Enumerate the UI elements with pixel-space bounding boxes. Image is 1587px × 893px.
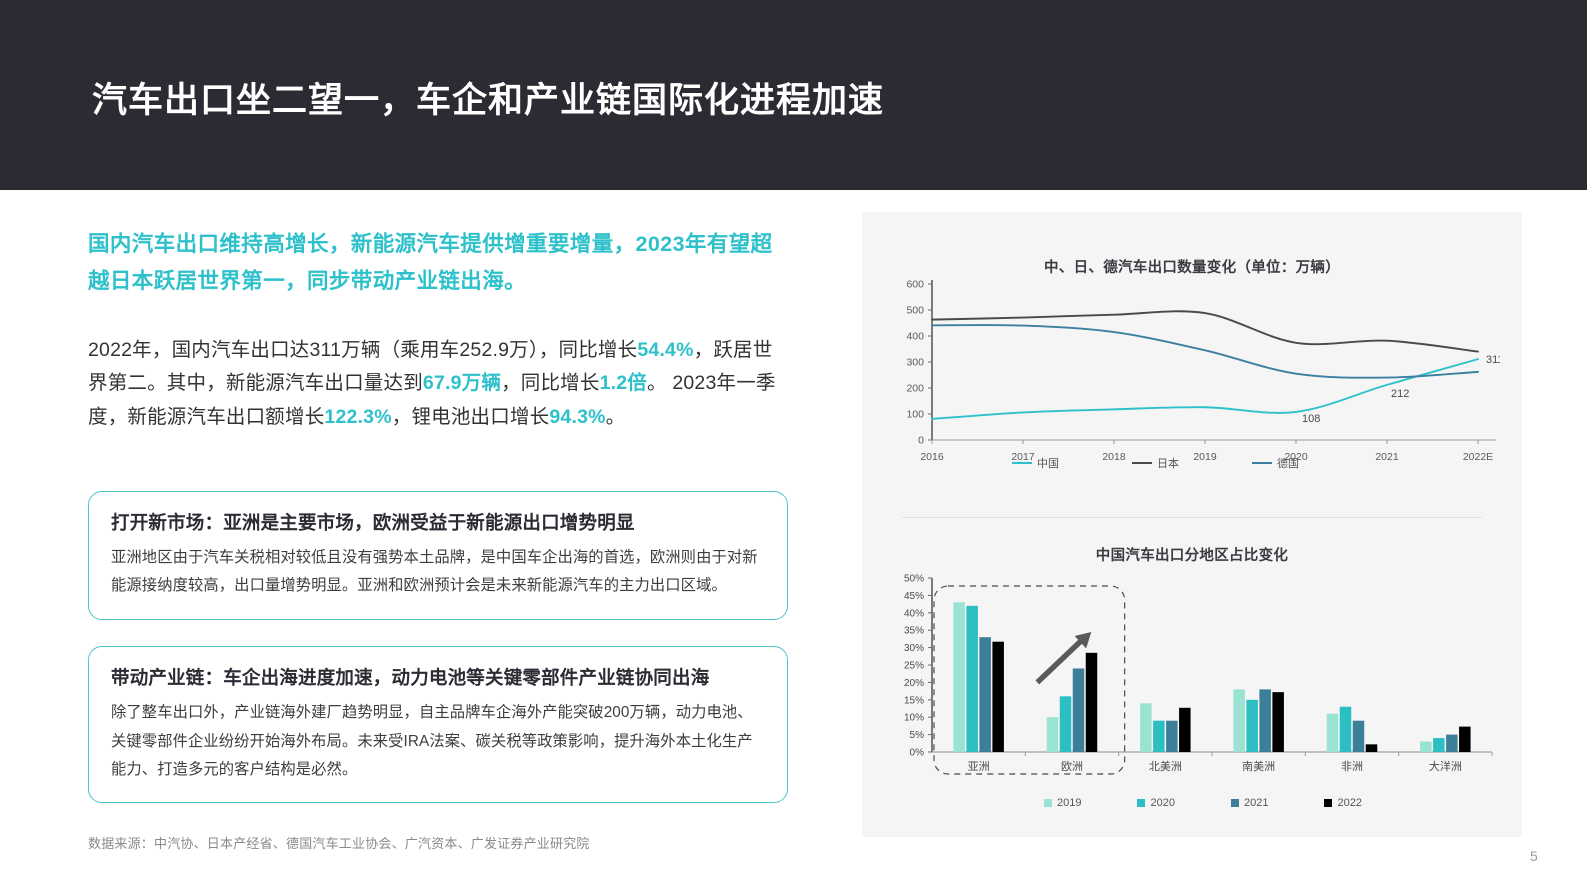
para-highlight-4: 122.3%: [324, 406, 391, 428]
bar-非洲-2020: [1340, 707, 1352, 752]
legend-item-中国[interactable]: 中国: [1012, 455, 1132, 471]
legend-item-德国[interactable]: 德国: [1252, 455, 1372, 471]
bar-chart: 0%5%10%15%20%25%30%35%40%45%50%亚洲欧洲北美洲南美…: [880, 570, 1505, 785]
bar-北美洲-2022: [1179, 708, 1191, 752]
bar-亚洲-2022: [992, 642, 1004, 752]
line-point-label: 212: [1391, 388, 1409, 400]
y-tick-label: 10%: [904, 713, 924, 724]
y-tick-label: 0%: [910, 748, 925, 759]
lead-heading: 国内汽车出口维持高增长，新能源汽车提供增重要增量，2023年有望超越日本跃居世界…: [88, 226, 788, 300]
panel-divider: [902, 517, 1482, 518]
legend-item-2020[interactable]: 2020: [1137, 797, 1174, 809]
para-seg-3: ，同比增长: [501, 372, 600, 394]
x-tick-label: 南美洲: [1242, 760, 1275, 773]
bar-欧洲-2019: [1047, 717, 1059, 752]
header-band: 汽车出口坐二望一，车企和产业链国际化进程加速: [0, 0, 1587, 190]
y-tick-label: 35%: [904, 626, 924, 637]
y-tick-label: 400: [906, 331, 924, 343]
left-content-column: 国内汽车出口维持高增长，新能源汽车提供增重要增量，2023年有望超越日本跃居世界…: [88, 226, 788, 803]
bar-亚洲-2020: [966, 606, 978, 752]
para-highlight-3: 1.2倍: [600, 372, 647, 394]
y-tick-label: 100: [906, 409, 924, 421]
y-tick-label: 200: [906, 383, 924, 395]
y-tick-label: 40%: [904, 608, 924, 619]
para-highlight-2: 67.9万辆: [423, 372, 501, 394]
legend-swatch-icon: [1231, 799, 1239, 807]
legend-swatch-icon: [1324, 799, 1332, 807]
slide: 汽车出口坐二望一，车企和产业链国际化进程加速 国内汽车出口维持高增长，新能源汽车…: [0, 0, 1587, 893]
legend-swatch-icon: [1252, 462, 1272, 464]
bar-欧洲-2021: [1073, 668, 1085, 752]
y-tick-label: 50%: [904, 574, 924, 585]
y-tick-label: 500: [906, 305, 924, 317]
bar-chart-canvas: 0%5%10%15%20%25%30%35%40%45%50%亚洲欧洲北美洲南美…: [880, 570, 1505, 785]
bar-南美洲-2021: [1259, 689, 1271, 752]
legend-item-2019[interactable]: 2019: [1044, 797, 1081, 809]
bar-大洋洲-2021: [1446, 735, 1458, 752]
legend-label: 2021: [1244, 797, 1268, 809]
legend-label: 2019: [1057, 797, 1081, 809]
legend-item-2022[interactable]: 2022: [1324, 797, 1361, 809]
body-paragraph: 2022年，国内汽车出口达311万辆（乘用车252.9万），同比增长54.4%，…: [88, 334, 788, 435]
bar-欧洲-2022: [1086, 653, 1098, 752]
line-chart-canvas: 0100200300400500600201620172018201920202…: [890, 272, 1500, 482]
legend-swatch-icon: [1044, 799, 1052, 807]
bar-非洲-2022: [1366, 744, 1378, 752]
bar-非洲-2021: [1353, 721, 1365, 752]
bar-非洲-2019: [1327, 714, 1339, 752]
bar-亚洲-2019: [953, 602, 965, 752]
note-title: 带动产业链：车企出海进度加速，动力电池等关键零部件产业链协同出海: [111, 663, 765, 693]
x-tick-label: 2022E: [1463, 451, 1493, 463]
bar-欧洲-2020: [1060, 696, 1072, 752]
x-tick-label: 2016: [920, 451, 944, 463]
y-tick-label: 0: [918, 435, 924, 447]
page-title: 汽车出口坐二望一，车企和产业链国际化进程加速: [92, 72, 884, 123]
line-series-德国: [932, 325, 1478, 378]
line-chart: 0100200300400500600201620172018201920202…: [890, 272, 1500, 482]
legend-label: 日本: [1157, 455, 1179, 471]
bar-chart-legend: 2019202020212022: [1044, 797, 1362, 809]
para-seg-5: ，锂电池出口增长: [392, 406, 550, 428]
y-tick-label: 45%: [904, 591, 924, 602]
legend-label: 2022: [1337, 797, 1361, 809]
bar-chart-title: 中国汽车出口分地区占比变化: [862, 544, 1522, 565]
bar-南美洲-2019: [1233, 689, 1245, 752]
line-chart-legend: 中国日本德国: [1012, 455, 1372, 471]
legend-label: 2020: [1150, 797, 1174, 809]
y-tick-label: 600: [906, 279, 924, 291]
bar-大洋洲-2022: [1459, 727, 1471, 752]
bar-亚洲-2021: [979, 637, 991, 752]
note-body: 亚洲地区由于汽车关税相对较低且没有强势本土品牌，是中国车企出海的首选，欧洲则由于…: [111, 544, 765, 601]
para-highlight-5: 94.3%: [549, 406, 605, 428]
x-tick-label: 大洋洲: [1429, 759, 1462, 773]
legend-swatch-icon: [1012, 462, 1032, 464]
legend-label: 德国: [1277, 455, 1299, 471]
y-tick-label: 300: [906, 357, 924, 369]
note-title: 打开新市场：亚洲是主要市场，欧洲受益于新能源出口增势明显: [111, 508, 765, 538]
legend-item-2021[interactable]: 2021: [1231, 797, 1268, 809]
legend-item-日本[interactable]: 日本: [1132, 455, 1252, 471]
bar-北美洲-2019: [1140, 703, 1152, 752]
note-body: 除了整车出口外，产业链海外建厂趋势明显，自主品牌车企海外产能突破200万辆，动力…: [111, 699, 765, 784]
y-tick-label: 5%: [910, 730, 925, 741]
legend-swatch-icon: [1132, 462, 1152, 464]
note-box-supply-chain: 带动产业链：车企出海进度加速，动力电池等关键零部件产业链协同出海 除了整车出口外…: [88, 646, 788, 803]
para-seg-6: 。: [606, 406, 626, 428]
line-series-日本: [932, 311, 1478, 351]
bar-大洋洲-2019: [1420, 742, 1432, 752]
x-tick-label: 北美洲: [1149, 760, 1182, 773]
line-point-label: 311: [1486, 354, 1500, 366]
note-box-new-markets: 打开新市场：亚洲是主要市场，欧洲受益于新能源出口增势明显 亚洲地区由于汽车关税相…: [88, 491, 788, 620]
y-tick-label: 20%: [904, 678, 924, 689]
y-tick-label: 25%: [904, 661, 924, 672]
bar-南美洲-2022: [1272, 692, 1284, 752]
x-tick-label: 2021: [1375, 451, 1399, 463]
charts-panel: 中、日、德汽车出口数量变化（单位：万辆） 0100200300400500600…: [862, 212, 1522, 837]
bar-北美洲-2021: [1166, 721, 1178, 752]
x-tick-label: 亚洲: [968, 761, 990, 773]
legend-label: 中国: [1037, 455, 1059, 471]
source-note: 数据来源：中汽协、日本产经省、德国汽车工业协会、广汽资本、广发证券产业研究院: [88, 833, 590, 852]
para-highlight-1: 54.4%: [637, 339, 693, 361]
line-point-label: 108: [1302, 413, 1320, 425]
page-number: 5: [1530, 848, 1538, 864]
bar-大洋洲-2020: [1433, 738, 1445, 752]
x-tick-label: 非洲: [1341, 760, 1363, 773]
y-tick-label: 15%: [904, 695, 924, 706]
x-tick-label: 欧洲: [1061, 760, 1083, 773]
y-tick-label: 30%: [904, 643, 924, 654]
para-seg-1: 2022年，国内汽车出口达311万辆（乘用车252.9万），同比增长: [88, 339, 637, 361]
bar-南美洲-2020: [1246, 700, 1258, 752]
bar-北美洲-2020: [1153, 721, 1165, 752]
legend-swatch-icon: [1137, 799, 1145, 807]
